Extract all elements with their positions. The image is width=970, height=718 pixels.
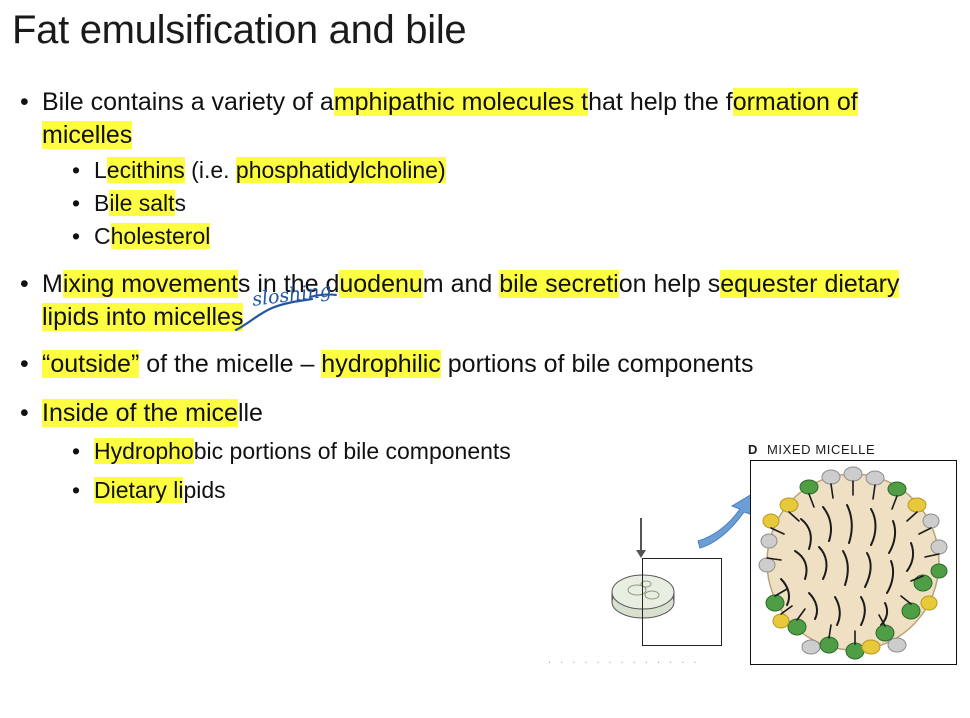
- bullet-glyph: •: [20, 397, 29, 430]
- bullet-glyph: •: [20, 348, 29, 381]
- highlighted-segment: uodenu: [339, 270, 422, 298]
- highlighted-segment: ecithins: [107, 157, 185, 183]
- bullet-text: “outside” of the micelle – hydrophilic p…: [42, 350, 754, 378]
- bullet-glyph: •: [72, 475, 80, 506]
- figure-dots-row: . . . . . . . . . . . . .: [548, 654, 699, 666]
- bullet-glyph: •: [72, 436, 80, 467]
- figure-caption: DMIXED MICELLE: [748, 442, 875, 457]
- text-segment: lle: [238, 399, 263, 427]
- bullet-glyph: •: [72, 221, 80, 252]
- highlighted-segment: ixing movement: [63, 270, 238, 298]
- text-segment: of the micelle –: [139, 350, 321, 378]
- bullet-glyph: •: [20, 268, 29, 301]
- text-segment: Bile contains a variety of a: [42, 88, 334, 116]
- text-segment: s: [175, 190, 187, 216]
- text-segment: m and: [423, 270, 499, 298]
- list-item: • Cholesterol: [68, 221, 916, 252]
- zoom-source-box: [642, 558, 722, 646]
- text-segment: L: [94, 157, 107, 183]
- figure-panel-letter: D: [748, 442, 758, 457]
- text-segment: bic portions of bile components: [194, 438, 511, 464]
- text-segment: C: [94, 223, 111, 249]
- list-item: • Hydrophobic portions of bile component…: [68, 436, 538, 467]
- highlighted-segment: hydrophilic: [321, 350, 441, 378]
- list-item: • Dietary lipids: [68, 475, 538, 506]
- bullet-text: Hydrophobic portions of bile components: [94, 438, 511, 464]
- figure-mixed-micelle: DMIXED MICELLE: [548, 440, 958, 675]
- highlighted-segment: Hydropho: [94, 438, 194, 464]
- sub-bullet-list: • Hydrophobic portions of bile component…: [16, 436, 538, 506]
- text-segment: B: [94, 190, 109, 216]
- bullet-text: Dietary lipids: [94, 477, 226, 503]
- bullet-glyph: •: [72, 155, 80, 186]
- text-segment: on help s: [619, 270, 720, 298]
- bullet-text: Bile contains a variety of amphipathic m…: [42, 88, 858, 149]
- list-item: • Mixing movements in the duodenum and b…: [16, 268, 916, 334]
- text-segment: M: [42, 270, 63, 298]
- slide: Fat emulsification and bile • Bile conta…: [0, 0, 970, 718]
- mixed-micelle-panel: [750, 460, 957, 665]
- highlighted-segment: Dietary li: [94, 477, 183, 503]
- list-item: • Bile contains a variety of amphipathic…: [16, 86, 916, 152]
- micelle-diagram-icon: [751, 461, 956, 664]
- bullet-text: Lecithins (i.e. phosphatidylcholine): [94, 157, 446, 183]
- bullet-glyph: •: [20, 86, 29, 119]
- figure-caption-text: MIXED MICELLE: [767, 442, 875, 457]
- bullet-text: Bile salts: [94, 190, 186, 216]
- list-item: • Lecithins (i.e. phosphatidylcholine): [68, 155, 916, 186]
- text-segment: hat help the f: [588, 88, 733, 116]
- down-arrow-icon: [640, 518, 642, 552]
- highlighted-segment: holesterol: [111, 223, 211, 249]
- text-segment: (i.e.: [185, 157, 236, 183]
- highlighted-segment: “outside”: [42, 350, 139, 378]
- list-item: • Inside of the micelle: [16, 397, 916, 430]
- highlighted-segment: Inside of the mice: [42, 399, 238, 427]
- page-title: Fat emulsification and bile: [12, 8, 466, 53]
- list-item: • Bile salts: [68, 188, 916, 219]
- text-segment: s in the d: [238, 270, 339, 298]
- highlighted-segment: bile secreti: [499, 270, 619, 298]
- bullet-glyph: •: [72, 188, 80, 219]
- bullet-text: Inside of the micelle: [42, 399, 263, 427]
- list-item: • “outside” of the micelle – hydrophilic…: [16, 348, 916, 381]
- highlighted-segment: mphipathic molecules t: [334, 88, 588, 116]
- highlighted-segment: ile salt: [109, 190, 174, 216]
- bullet-text: Mixing movements in the duodenum and bil…: [42, 270, 899, 331]
- text-segment: portions of bile components: [441, 350, 754, 378]
- text-segment: pids: [183, 477, 225, 503]
- bullet-text: Cholesterol: [94, 223, 210, 249]
- sub-bullet-list: • Lecithins (i.e. phosphatidylcholine) •…: [16, 155, 916, 252]
- highlighted-segment: phosphatidylcholine): [236, 157, 446, 183]
